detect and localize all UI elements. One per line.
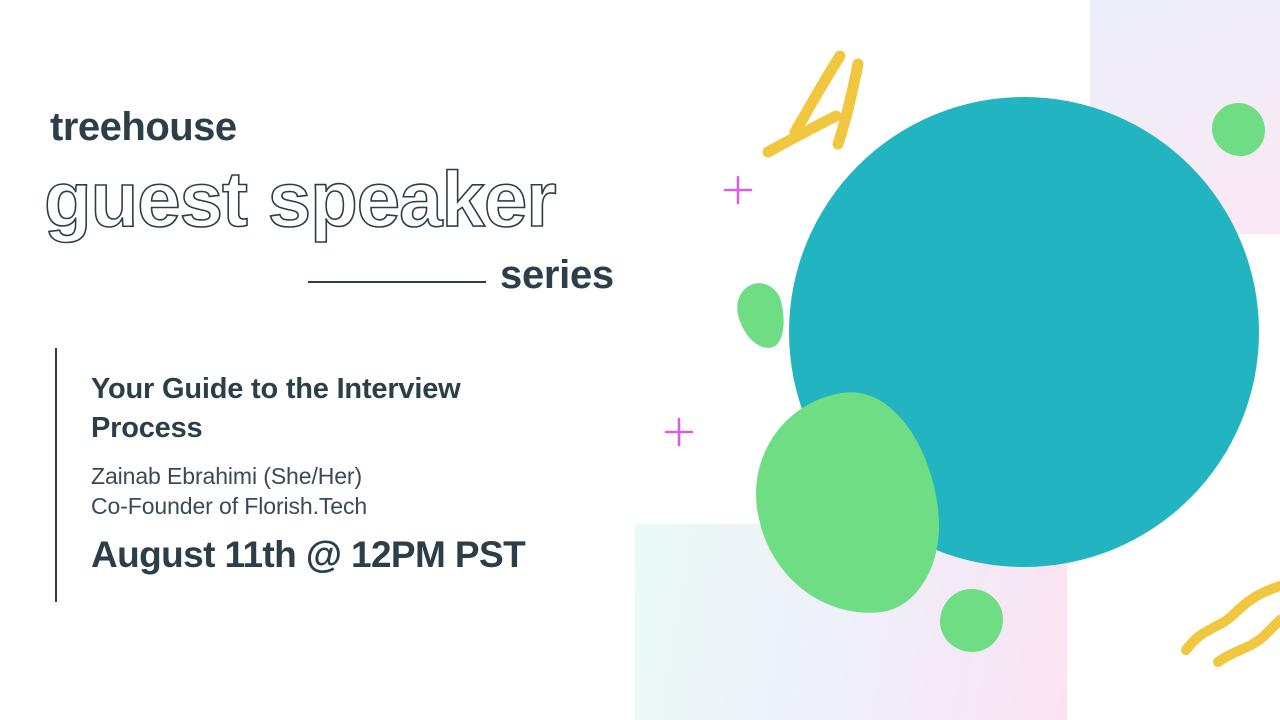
talk-title: Your Guide to the Interview Process: [91, 370, 521, 447]
series-label: series: [500, 255, 614, 295]
left-accent-bar: [55, 348, 57, 602]
promo-slide: treehouse guest speaker series Your Guid…: [0, 0, 1280, 720]
speaker-name: Zainab Ebrahimi (She/Her): [91, 462, 362, 491]
series-divider-rule: [308, 281, 486, 283]
green-blob-small-icon: [732, 279, 792, 354]
treehouse-wordmark: treehouse: [50, 107, 237, 147]
headline-guest-speaker: guest speaker: [44, 160, 556, 238]
event-datetime: August 11th @ 12PM PST: [91, 535, 525, 576]
green-blob-dot-icon: [940, 589, 1003, 652]
speaker-role: Co-Founder of Florish.Tech: [91, 492, 367, 521]
